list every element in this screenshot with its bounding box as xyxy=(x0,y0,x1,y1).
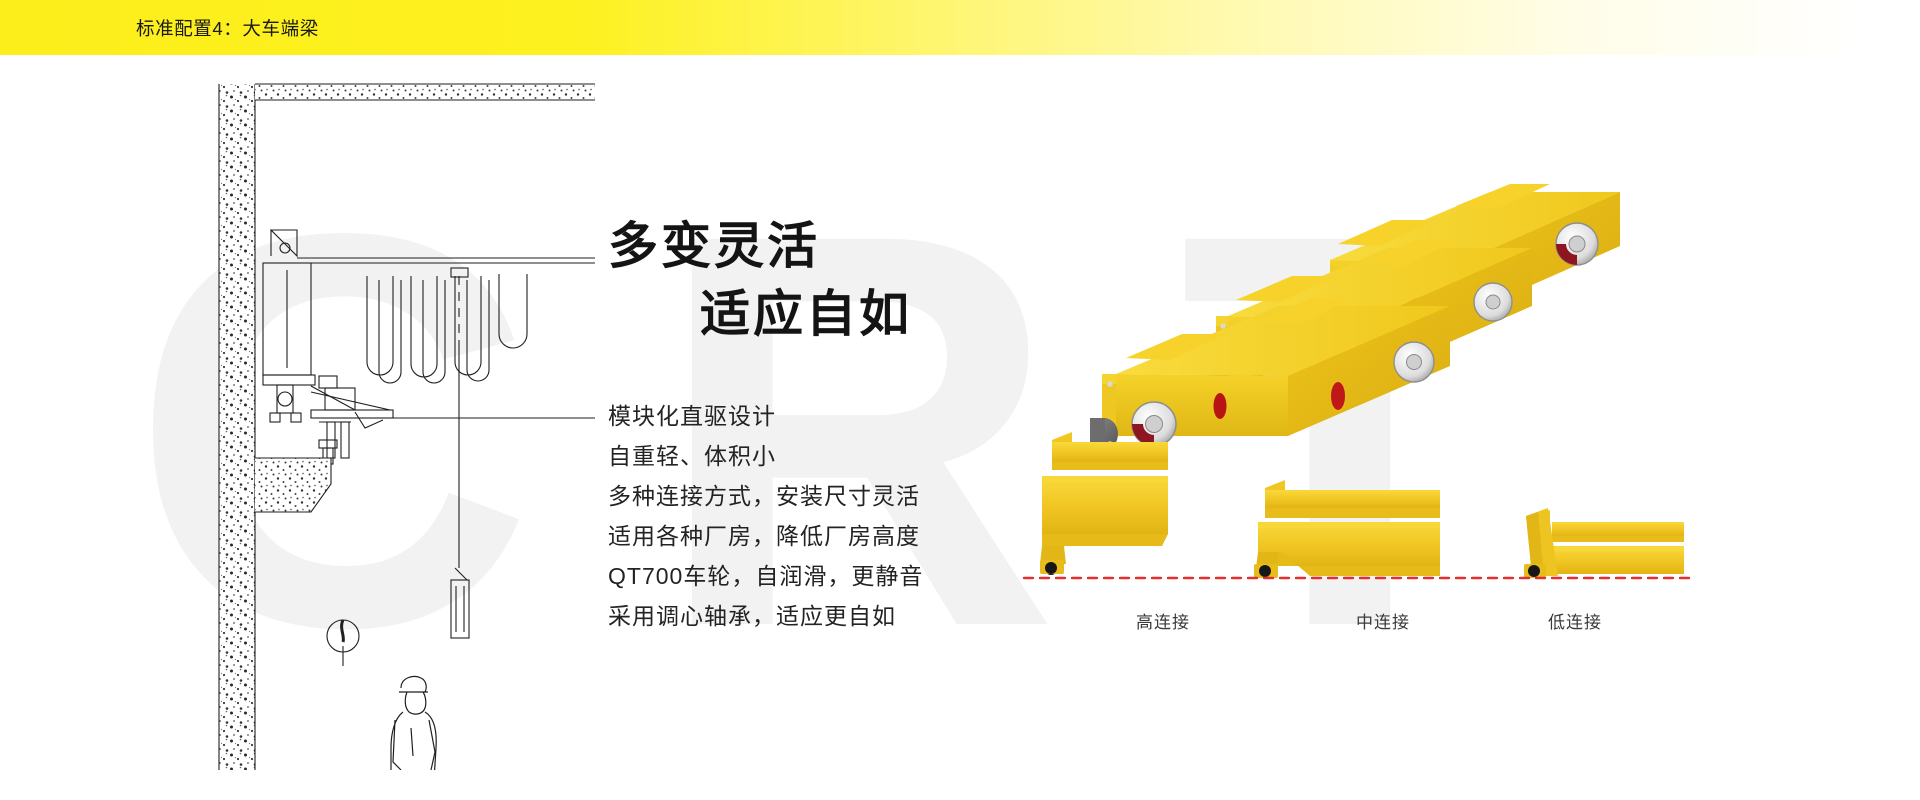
slide-root: CRT 标准配置4：大车端梁 xyxy=(0,0,1920,800)
feature-item: 模块化直驱设计 xyxy=(608,396,923,436)
feature-item: 适用各种厂房，降低厂房高度 xyxy=(608,516,923,556)
feature-list: 模块化直驱设计 自重轻、体积小 多种连接方式，安装尺寸灵活 适用各种厂房，降低厂… xyxy=(608,396,923,636)
beam-front xyxy=(1090,298,1450,452)
caption-high-connection: 高连接 xyxy=(1136,608,1190,633)
header-banner: 标准配置4：大车端梁 xyxy=(0,0,1920,55)
feature-item: 采用调心轴承，适应更自如 xyxy=(608,596,923,636)
profile-low-connection xyxy=(1524,508,1684,578)
profile-high-connection xyxy=(1040,432,1168,575)
headline-line-1: 多变灵活 xyxy=(608,212,912,280)
headline-line-2: 适应自如 xyxy=(608,280,912,348)
page-title: 标准配置4：大车端梁 xyxy=(136,15,319,41)
headline: 多变灵活 适应自如 xyxy=(608,212,912,348)
profile-mid-connection xyxy=(1254,480,1440,578)
technical-drawing xyxy=(215,80,595,770)
feature-item: 多种连接方式，安装尺寸灵活 xyxy=(608,476,923,516)
caption-low-connection: 低连接 xyxy=(1548,608,1602,633)
connection-captions: 高连接 中连接 低连接 xyxy=(1020,608,1700,642)
product-render-group xyxy=(1020,140,1700,660)
feature-item: 自重轻、体积小 xyxy=(608,436,923,476)
feature-item: QT700车轮，自润滑，更静音 xyxy=(608,556,923,596)
caption-mid-connection: 中连接 xyxy=(1356,608,1410,633)
